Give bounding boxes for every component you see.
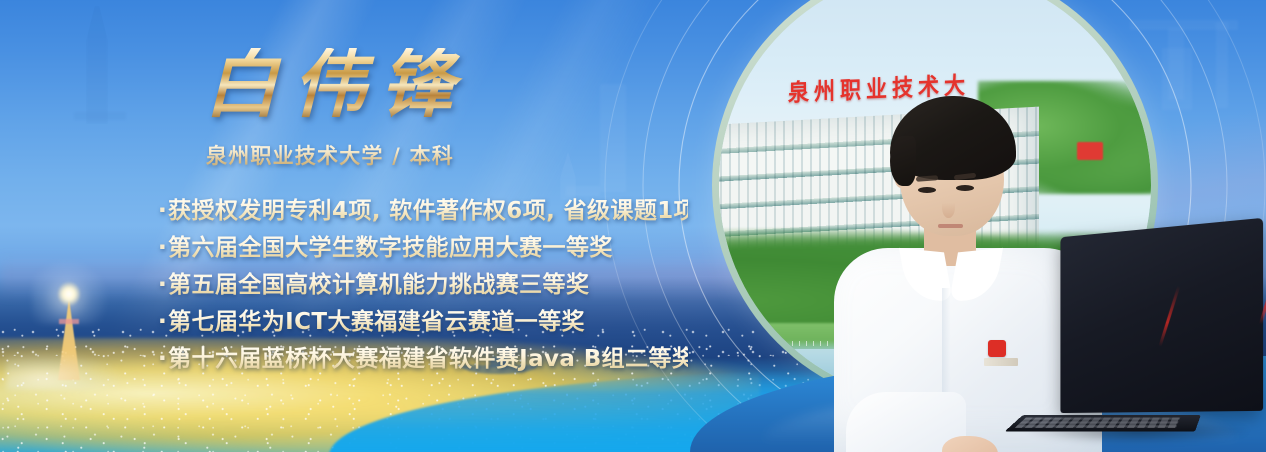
eye-right (956, 185, 974, 191)
achievement-item: ·第十六届蓝桥杯大赛福建省软件赛Java B组二等奖 (158, 344, 688, 375)
laptop-accent-stripe-1 (1158, 286, 1180, 347)
achievement-item: ·获授权发明专利4项, 软件著作权6项, 省级课题1项 (158, 196, 688, 227)
achievement-text: 第五届全国高校计算机能力挑战赛三等奖 (168, 272, 589, 298)
text-content: 白伟锋 泉州职业技术大学 / 本科 ·获授权发明专利4项, 软件著作权6项, 省… (0, 0, 700, 452)
laptop-keyboard-base (1004, 415, 1200, 432)
bullet-marker: · (158, 235, 167, 261)
bullet-marker: · (158, 309, 167, 335)
laptop (1036, 228, 1264, 438)
shirt-badge-ribbon (984, 358, 1018, 366)
mouth (938, 224, 963, 228)
achievement-text: 第十六届蓝桥杯大赛福建省软件赛Java B组二等奖 (168, 346, 695, 372)
eye-left (918, 187, 936, 193)
person-name: 白伟锋 (204, 48, 468, 122)
profile-banner: 泉州职业技术大 (0, 0, 1266, 452)
laptop-keys (1014, 418, 1180, 429)
achievement-item: ·第五届全国高校计算机能力挑战赛三等奖 (158, 270, 688, 301)
achievements-list: ·获授权发明专利4项, 软件著作权6项, 省级课题1项 ·第六届全国大学生数字技… (158, 196, 688, 381)
hair-sideburn (890, 136, 916, 186)
achievement-text: 获授权发明专利4项, 软件著作权6项, 省级课题1项 (168, 198, 697, 224)
nose (942, 196, 955, 218)
school-and-degree-subtitle: 泉州职业技术大学 / 本科 (206, 140, 454, 170)
bullet-marker: · (158, 346, 167, 372)
shirt-badge-icon (988, 340, 1006, 357)
laptop-lid (1060, 218, 1263, 413)
bullet-marker: · (158, 198, 167, 224)
achievement-item: ·第六届全国大学生数字技能应用大赛一等奖 (158, 233, 688, 264)
achievement-text: 第七届华为ICT大赛福建省云赛道一等奖 (168, 309, 585, 335)
bullet-marker: · (158, 272, 167, 298)
achievement-item: ·第七届华为ICT大赛福建省云赛道一等奖 (158, 307, 688, 338)
achievement-text: 第六届全国大学生数字技能应用大赛一等奖 (168, 235, 613, 261)
